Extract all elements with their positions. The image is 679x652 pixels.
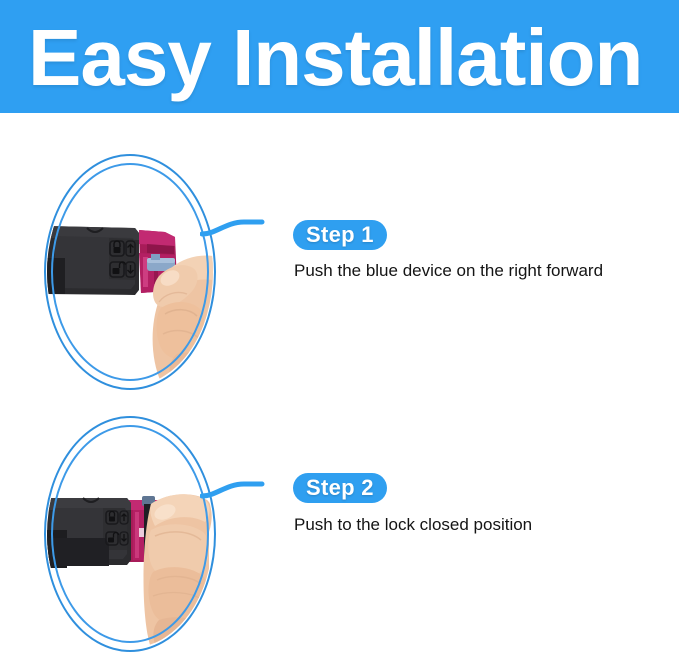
photo-ring-inner (51, 163, 209, 381)
step-1-description: Push the blue device on the right forwar… (294, 258, 644, 284)
step-1-badge[interactable]: Step 1 (293, 220, 387, 250)
photo-ring-inner (51, 425, 209, 643)
step-2-badge[interactable]: Step 2 (293, 473, 387, 503)
step-2-description: Push to the lock closed position (294, 512, 644, 538)
step-1-photo-frame (44, 154, 216, 390)
header-banner: Easy Installation (0, 0, 679, 113)
step-2-photo-frame (44, 416, 216, 652)
page-title: Easy Installation (28, 12, 642, 104)
